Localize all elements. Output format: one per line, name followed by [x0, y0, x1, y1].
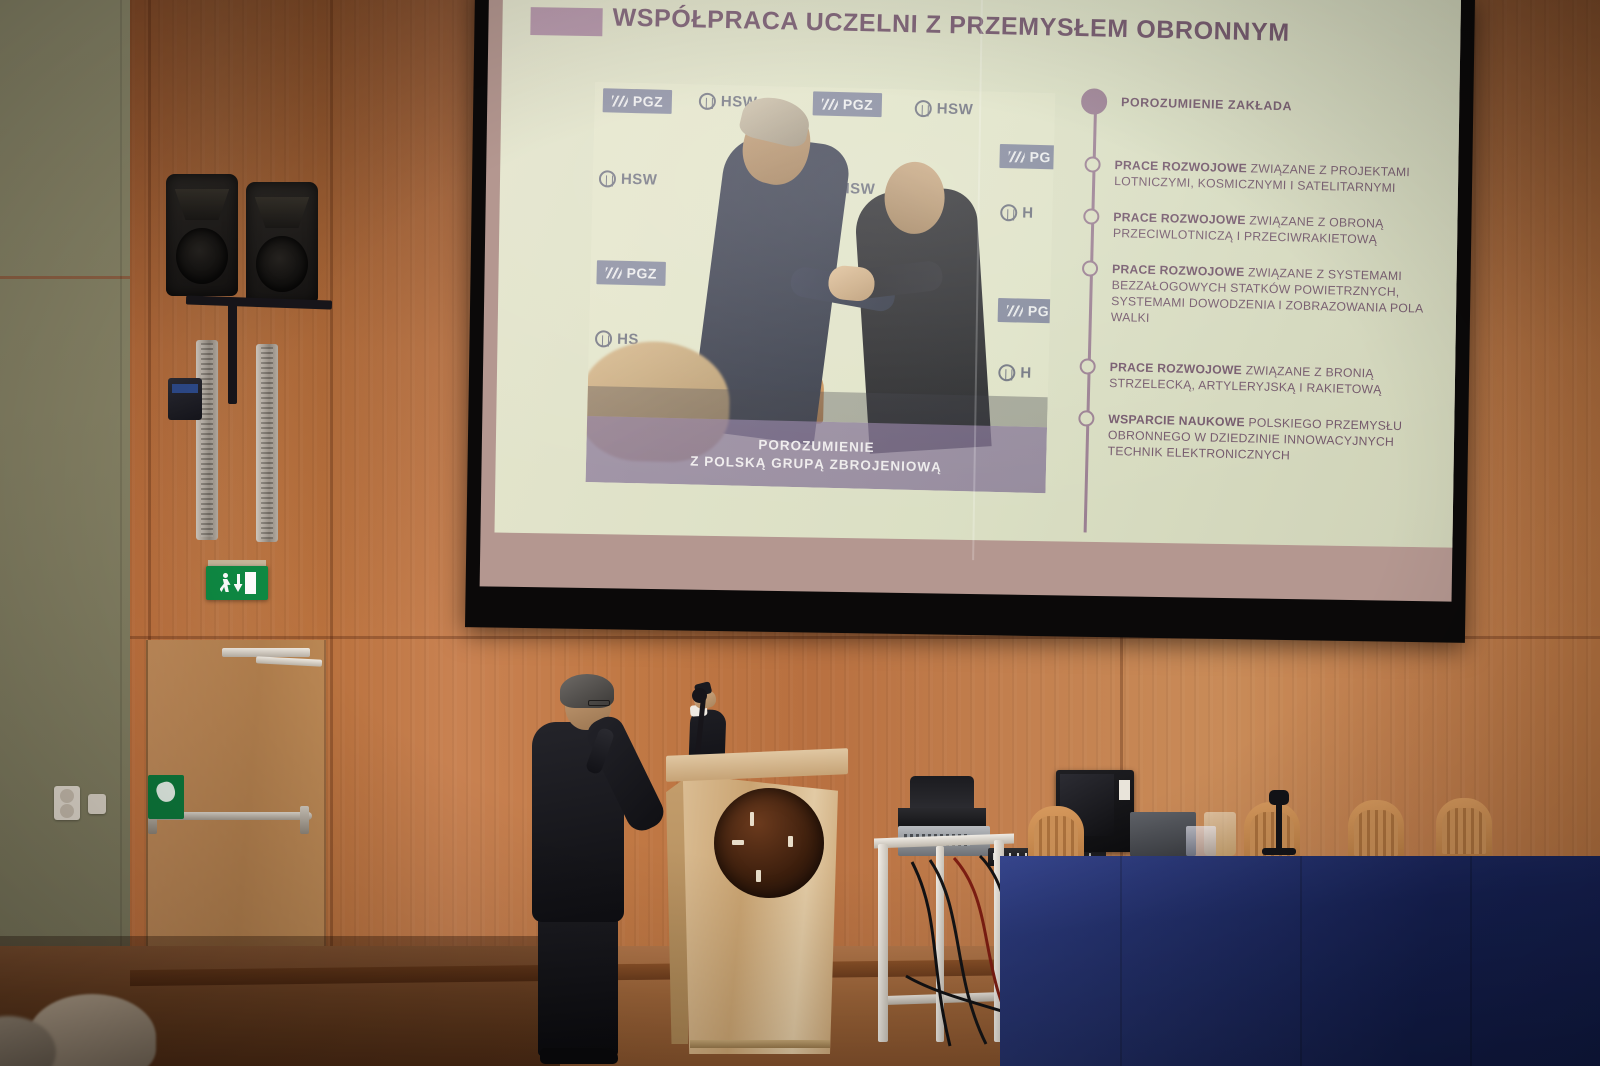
column-speaker-right [256, 344, 278, 542]
pa-speaker-right [246, 182, 318, 304]
logo-hsw: HSW [599, 170, 658, 188]
photo-handshake [827, 264, 876, 302]
photo-caption-line2: Z POLSKĄ GRUPĄ ZBROJENIOWĄ [690, 453, 942, 474]
push-bar-bracket [300, 806, 309, 834]
column-speaker-left [196, 340, 218, 540]
monitor-sticker [1119, 780, 1130, 800]
logo-pgz: PGZ [813, 91, 883, 117]
timeline-item-4: PRACE ROZWOJOWE ZWIĄZANE Z BRONIĄ STRZEL… [1068, 358, 1429, 400]
timeline-item-lead: PRACE ROZWOJOWE [1113, 210, 1246, 227]
timeline-item-text: PRACE ROZWOJOWE ZWIĄZANE Z OBRONĄ PRZECI… [1113, 209, 1433, 250]
presenter-legs [538, 914, 618, 1056]
timeline-item-text: PRACE ROZWOJOWE ZWIĄZANE Z PROJEKTAMI LO… [1114, 157, 1434, 198]
logo-pgz: PG [998, 298, 1056, 323]
logo-pgz: PGZ [596, 260, 666, 286]
slide-timeline: POROZUMIENIE ZAKŁADA PRACE ROZWOJOWE ZWI… [1065, 88, 1436, 537]
wall-seam [330, 0, 333, 1010]
slide-photo: PGZ HSW PGZ HSW PG HSW HSW H PGZ PGZ PG … [586, 82, 1056, 493]
logo-hsw: H [998, 364, 1032, 382]
timeline-item-lead: PRACE ROZWOJOWE [1112, 262, 1245, 279]
timeline-item-lead: PRACE ROZWOJOWE [1114, 158, 1247, 175]
acoustic-wall-panel [0, 0, 148, 1000]
auditorium-scene: WSPÓŁPRACA UCZELNI Z PRZEMYSŁEM OBRONNYM… [0, 0, 1600, 1066]
chair-3 [1348, 800, 1404, 860]
cart-top-shelf [874, 834, 1014, 849]
presenter-shoe [540, 1048, 618, 1064]
timeline-item-lead: WSPARCIE NAUKOWE [1108, 412, 1245, 429]
speaker-stand-pole [228, 300, 237, 404]
presenter [520, 676, 670, 1066]
tablecloth-fold [1120, 856, 1122, 1066]
timeline-dot [1084, 156, 1100, 172]
projection-screen: WSPÓŁPRACA UCZELNI Z PRZEMYSŁEM OBRONNYM… [465, 0, 1475, 643]
photo-caption-line1: POROZUMIENIE [758, 437, 875, 455]
logo-hsw: H [1000, 204, 1034, 222]
timeline-item-2: PRACE ROZWOJOWE ZWIĄZANE Z OBRONĄ PRZECI… [1072, 208, 1433, 250]
lectern [666, 752, 848, 1052]
wall-plate [88, 794, 106, 814]
timeline-item-text: WSPARCIE NAUKOWE POLSKIEGO PRZEMYSŁU OBR… [1107, 411, 1427, 467]
pa-speaker-left [166, 174, 238, 296]
timeline-item-5: WSPARCIE NAUKOWE POLSKIEGO PRZEMYSŁU OBR… [1066, 410, 1427, 467]
logo-pgz: PG [999, 144, 1055, 169]
timeline-dot [1082, 260, 1098, 276]
tablecloth-fold [1470, 856, 1472, 1066]
timeline-heading: POROZUMIENIE ZAKŁADA [1121, 89, 1293, 119]
running-figure-icon [219, 573, 232, 593]
door-bar-icon [245, 572, 256, 594]
slide-title: WSPÓŁPRACA UCZELNI Z PRZEMYSŁEM OBRONNYM [612, 3, 1442, 51]
timeline-dot [1083, 208, 1099, 224]
drinking-glasses [1186, 826, 1216, 856]
timeline-heading-item: POROZUMIENIE ZAKŁADA [1075, 88, 1436, 123]
presenter-glasses [588, 700, 610, 706]
first-aid-sign [148, 775, 184, 819]
timeline-item-text: PRACE ROZWOJOWE ZWIĄZANE Z SYSTEMAMI BEZ… [1111, 261, 1431, 333]
timeline-dot [1079, 358, 1095, 374]
timeline-item-lead: PRACE ROZWOJOWE [1109, 360, 1242, 377]
chair-4 [1436, 798, 1492, 858]
cart-leg [878, 844, 888, 1042]
photo-caption: POROZUMIENIE Z POLSKĄ GRUPĄ ZBROJENIOWĄ [586, 416, 1047, 493]
timeline-dot-filled [1081, 88, 1108, 115]
title-accent-bar [530, 7, 602, 36]
tablecloth-fold [1300, 856, 1302, 1066]
lectern-desktop [666, 748, 848, 782]
head-table [1000, 856, 1600, 1066]
wireless-beltpack [168, 378, 202, 420]
lectern-emblem [714, 788, 824, 898]
logo-hsw: HSW [915, 100, 974, 118]
timeline-dot [1078, 410, 1094, 426]
timeline-item-1: PRACE ROZWOJOWE ZWIĄZANE Z PROJEKTAMI LO… [1073, 156, 1434, 198]
logo-pgz: PGZ [603, 88, 673, 114]
door-closer [222, 648, 310, 657]
arrow-down-icon [234, 573, 243, 593]
wall-socket-upper [54, 786, 80, 820]
timeline-item-3: PRACE ROZWOJOWE ZWIĄZANE Z SYSTEMAMI BEZ… [1070, 260, 1431, 333]
lectern-base [690, 1040, 830, 1048]
table-microphone [1276, 800, 1282, 854]
screen-surface: WSPÓŁPRACA UCZELNI Z PRZEMYSŁEM OBRONNYM… [480, 0, 1461, 602]
emergency-exit-sign [206, 566, 268, 600]
timeline-item-text: PRACE ROZWOJOWE ZWIĄZANE Z BRONIĄ STRZEL… [1109, 359, 1429, 400]
